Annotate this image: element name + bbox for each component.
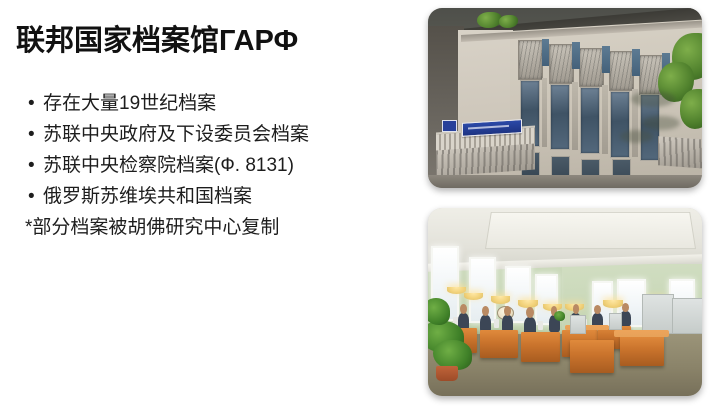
head: [460, 304, 467, 314]
reading-room-photo: [428, 208, 702, 396]
page-title: 联邦国家档案馆ГАРФ: [16, 25, 298, 58]
sculpted-frieze: [658, 136, 702, 168]
desk: [620, 336, 664, 366]
desk-divider: [609, 313, 622, 330]
head: [482, 306, 489, 316]
flower-pot: [436, 366, 458, 381]
window: [580, 87, 600, 154]
list-item-label: 苏联中央检察院档案(Ф. 8131): [43, 155, 294, 176]
building-scene: [428, 8, 702, 188]
pilaster: [572, 42, 580, 69]
list-item-label: 存在大量19世纪档案: [43, 93, 216, 114]
tree-foliage-icon: [680, 89, 702, 129]
list-item-label: 苏联中央政府及下设委员会档案: [43, 124, 309, 145]
desk: [570, 340, 614, 374]
desk-lamp-icon: [538, 321, 543, 330]
list-item: • 俄罗斯苏维埃共和国档案: [28, 181, 420, 212]
ceiling-panel: [485, 212, 696, 249]
wall-sconce-icon: [603, 300, 622, 308]
bullet-marker-icon: •: [28, 119, 35, 150]
footnote-text: *部分档案被胡佛研究中心复制: [25, 212, 279, 243]
window: [550, 84, 570, 151]
facade-rib: [572, 82, 578, 150]
leaf-shadow: [631, 91, 675, 107]
head: [594, 305, 601, 314]
pilaster: [602, 46, 610, 73]
desk: [480, 330, 518, 358]
facade-rib: [602, 85, 608, 153]
head: [573, 304, 580, 314]
potted-plant-icon: [554, 311, 565, 320]
wall-sconce-icon: [491, 296, 510, 304]
list-item-label: 俄罗斯苏维埃共和国档案: [43, 186, 252, 207]
archive-building-photo: [428, 8, 702, 188]
bullet-marker-icon: •: [28, 150, 35, 181]
building-base: [428, 175, 702, 188]
bullet-marker-icon: •: [28, 181, 35, 212]
desk: [521, 332, 559, 362]
relief-panel-icon: [609, 51, 634, 91]
small-plaque: [442, 120, 458, 133]
slide-canvas: 联邦国家档案馆ГАРФ • 存在大量19世纪档案 • 苏联中央政府及下设委员会档…: [0, 0, 720, 406]
facade-rib: [542, 78, 548, 146]
text-column: 联邦国家档案馆ГАРФ • 存在大量19世纪档案 • 苏联中央政府及下设委员会档…: [0, 0, 420, 406]
desk-divider: [570, 315, 586, 334]
leaf-shadow: [620, 130, 653, 143]
relief-panel-icon: [549, 44, 574, 84]
pilaster: [542, 39, 550, 66]
desk-lamp-icon: [494, 319, 499, 328]
list-item: • 苏联中央检察院档案(Ф. 8131): [28, 150, 420, 181]
list-item: • 苏联中央政府及下设委员会档案: [28, 119, 420, 150]
pilaster: [632, 49, 640, 76]
reading-room-scene: [428, 208, 702, 396]
head: [622, 303, 629, 312]
head: [526, 307, 534, 318]
desk-surface: [614, 330, 669, 337]
potted-plant-icon: [428, 298, 450, 324]
list-item: • 存在大量19世纪档案: [28, 88, 420, 119]
bullet-marker-icon: •: [28, 88, 35, 119]
bullet-list: • 存在大量19世纪档案 • 苏联中央政府及下设委员会档案 • 苏联中央检察院档…: [28, 88, 420, 212]
window: [610, 91, 630, 158]
relief-panel-icon: [518, 40, 543, 80]
head: [504, 306, 511, 316]
wall-sconce-icon: [464, 293, 483, 301]
partition: [672, 298, 702, 334]
relief-panel-icon: [579, 48, 604, 88]
partition: [642, 294, 674, 334]
